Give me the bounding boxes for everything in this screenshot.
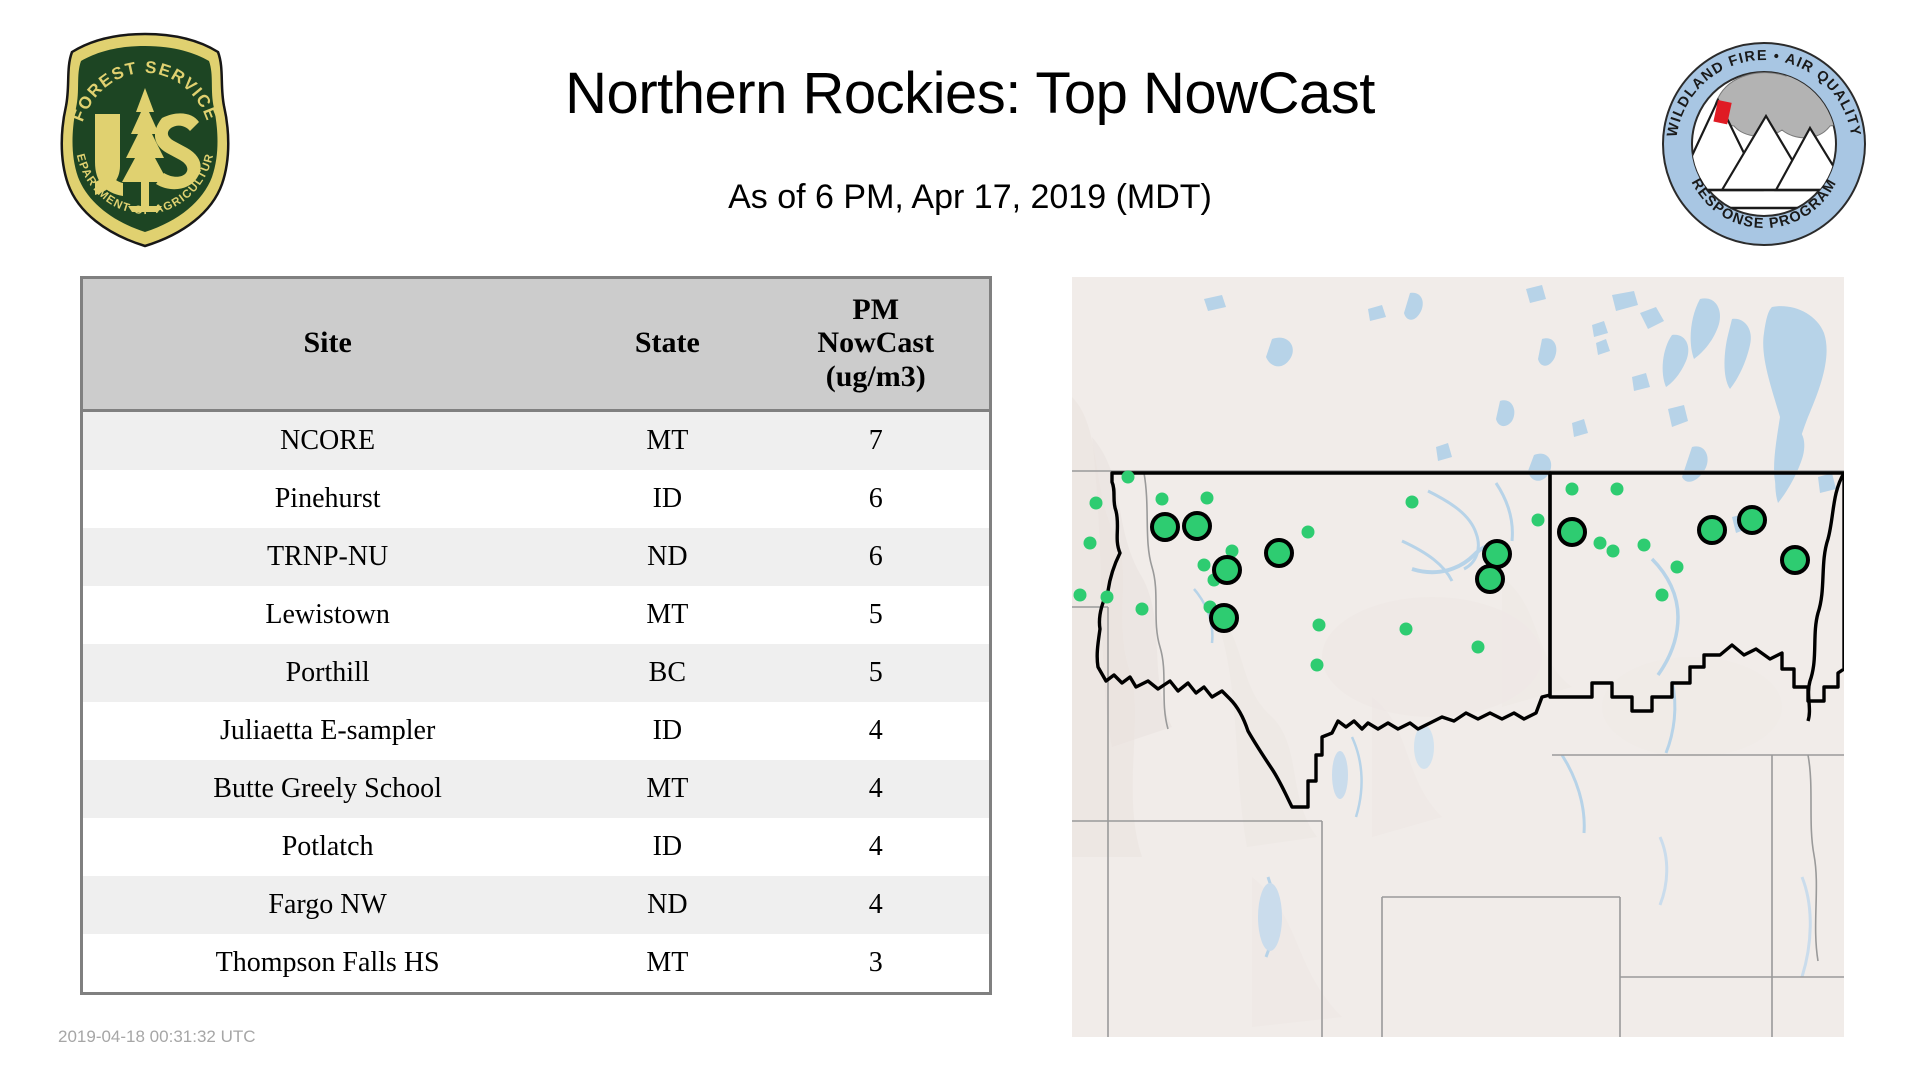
cell-pm-nowcast: 4 [762, 818, 989, 876]
column-header-pm-line3: (ug/m3) [766, 360, 985, 394]
map-site-marker-top[interactable] [1484, 541, 1510, 567]
cell-pm-nowcast: 5 [762, 644, 989, 702]
generated-timestamp: 2019-04-18 00:31:32 UTC [58, 1027, 256, 1047]
map-site-marker-small[interactable] [1532, 514, 1545, 527]
table-row: NCOREMT7 [83, 411, 989, 471]
map-site-marker-small[interactable] [1311, 659, 1324, 672]
map-site-marker-top[interactable] [1782, 547, 1808, 573]
column-header-pm-line2: NowCast [766, 326, 985, 360]
cell-pm-nowcast: 3 [762, 934, 989, 992]
map-site-marker-top[interactable] [1184, 513, 1210, 539]
map-site-marker-small[interactable] [1611, 483, 1624, 496]
cell-site: NCORE [83, 411, 572, 471]
map-site-marker-small[interactable] [1400, 623, 1413, 636]
map-site-marker-top[interactable] [1152, 514, 1178, 540]
cell-site: Pinehurst [83, 470, 572, 528]
cell-state: MT [572, 411, 762, 471]
map-site-marker-small[interactable] [1084, 537, 1097, 550]
map-site-marker-small[interactable] [1607, 545, 1620, 558]
forest-service-logo: FOREST SERVICE DEPARTMENT OF AGRICULTURE [52, 28, 238, 250]
map-site-marker-top[interactable] [1477, 566, 1503, 592]
map-site-marker-small[interactable] [1156, 493, 1169, 506]
map-site-marker-small[interactable] [1656, 589, 1669, 602]
map-site-marker-small[interactable] [1671, 561, 1684, 574]
map-site-marker-top[interactable] [1739, 507, 1765, 533]
map-site-marker-small[interactable] [1594, 537, 1607, 550]
map-site-marker-top[interactable] [1699, 517, 1725, 543]
cell-pm-nowcast: 6 [762, 470, 989, 528]
map-site-marker-top[interactable] [1266, 540, 1292, 566]
column-header-pm-nowcast: PM NowCast (ug/m3) [762, 279, 989, 411]
column-header-pm-line1: PM [766, 293, 985, 327]
table-row: Juliaetta E-samplerID4 [83, 702, 989, 760]
cell-site: TRNP-NU [83, 528, 572, 586]
cell-state: MT [572, 586, 762, 644]
table-row: Thompson Falls HSMT3 [83, 934, 989, 992]
table-header: Site State PM NowCast (ug/m3) [83, 279, 989, 411]
map-site-marker-small[interactable] [1101, 591, 1114, 604]
page-header: FOREST SERVICE DEPARTMENT OF AGRICULTURE… [0, 0, 1920, 260]
cell-pm-nowcast: 4 [762, 702, 989, 760]
cell-site: Juliaetta E-sampler [83, 702, 572, 760]
cell-site: Butte Greely School [83, 760, 572, 818]
map-site-marker-small[interactable] [1122, 471, 1135, 484]
cell-state: ND [572, 876, 762, 934]
table-body: NCOREMT7PinehurstID6TRNP-NUND6LewistownM… [83, 411, 989, 993]
map-site-marker-small[interactable] [1136, 603, 1149, 616]
map-site-marker-small[interactable] [1074, 589, 1087, 602]
table-row: TRNP-NUND6 [83, 528, 989, 586]
table-row: Fargo NWND4 [83, 876, 989, 934]
table-row: PorthillBC5 [83, 644, 989, 702]
map-site-marker-small[interactable] [1090, 497, 1103, 510]
column-header-state: State [572, 279, 762, 411]
cell-site: Porthill [83, 644, 572, 702]
map-site-marker-top[interactable] [1214, 557, 1240, 583]
top-nowcast-table: Site State PM NowCast (ug/m3) NCOREMT7Pi… [83, 279, 989, 992]
column-header-site: Site [83, 279, 572, 411]
map-site-marker-top[interactable] [1211, 605, 1237, 631]
cell-state: MT [572, 934, 762, 992]
map-site-marker-small[interactable] [1638, 539, 1651, 552]
table-row: LewistownMT5 [83, 586, 989, 644]
top-nowcast-table-container: Site State PM NowCast (ug/m3) NCOREMT7Pi… [80, 276, 992, 995]
map-site-marker-small[interactable] [1566, 483, 1579, 496]
cell-state: BC [572, 644, 762, 702]
page-title: Northern Rockies: Top NowCast [330, 60, 1610, 127]
cell-pm-nowcast: 4 [762, 876, 989, 934]
table-row: PotlatchID4 [83, 818, 989, 876]
cell-site: Thompson Falls HS [83, 934, 572, 992]
cell-pm-nowcast: 4 [762, 760, 989, 818]
cell-pm-nowcast: 5 [762, 586, 989, 644]
cell-pm-nowcast: 7 [762, 411, 989, 471]
map-site-marker-top[interactable] [1559, 519, 1585, 545]
table-header-row: Site State PM NowCast (ug/m3) [83, 279, 989, 411]
cell-state: ID [572, 702, 762, 760]
map-site-marker-small[interactable] [1406, 496, 1419, 509]
page-subtitle: As of 6 PM, Apr 17, 2019 (MDT) [330, 178, 1610, 217]
table-row: Butte Greely SchoolMT4 [83, 760, 989, 818]
map-site-marker-small[interactable] [1302, 526, 1315, 539]
cell-state: ID [572, 818, 762, 876]
wfaqrp-logo: WILDLAND FIRE • AIR QUALITY RESPONSE PRO… [1658, 38, 1870, 250]
cell-pm-nowcast: 6 [762, 528, 989, 586]
cell-site: Lewistown [83, 586, 572, 644]
cell-site: Fargo NW [83, 876, 572, 934]
map-site-marker-small[interactable] [1313, 619, 1326, 632]
cell-state: MT [572, 760, 762, 818]
map-site-marker-small[interactable] [1472, 641, 1485, 654]
monitor-map[interactable] [1072, 277, 1844, 1037]
cell-state: ND [572, 528, 762, 586]
cell-state: ID [572, 470, 762, 528]
map-site-marker-small[interactable] [1198, 559, 1211, 572]
map-site-marker-small[interactable] [1201, 492, 1214, 505]
cell-site: Potlatch [83, 818, 572, 876]
table-row: PinehurstID6 [83, 470, 989, 528]
map-canvas[interactable] [1072, 277, 1844, 1037]
